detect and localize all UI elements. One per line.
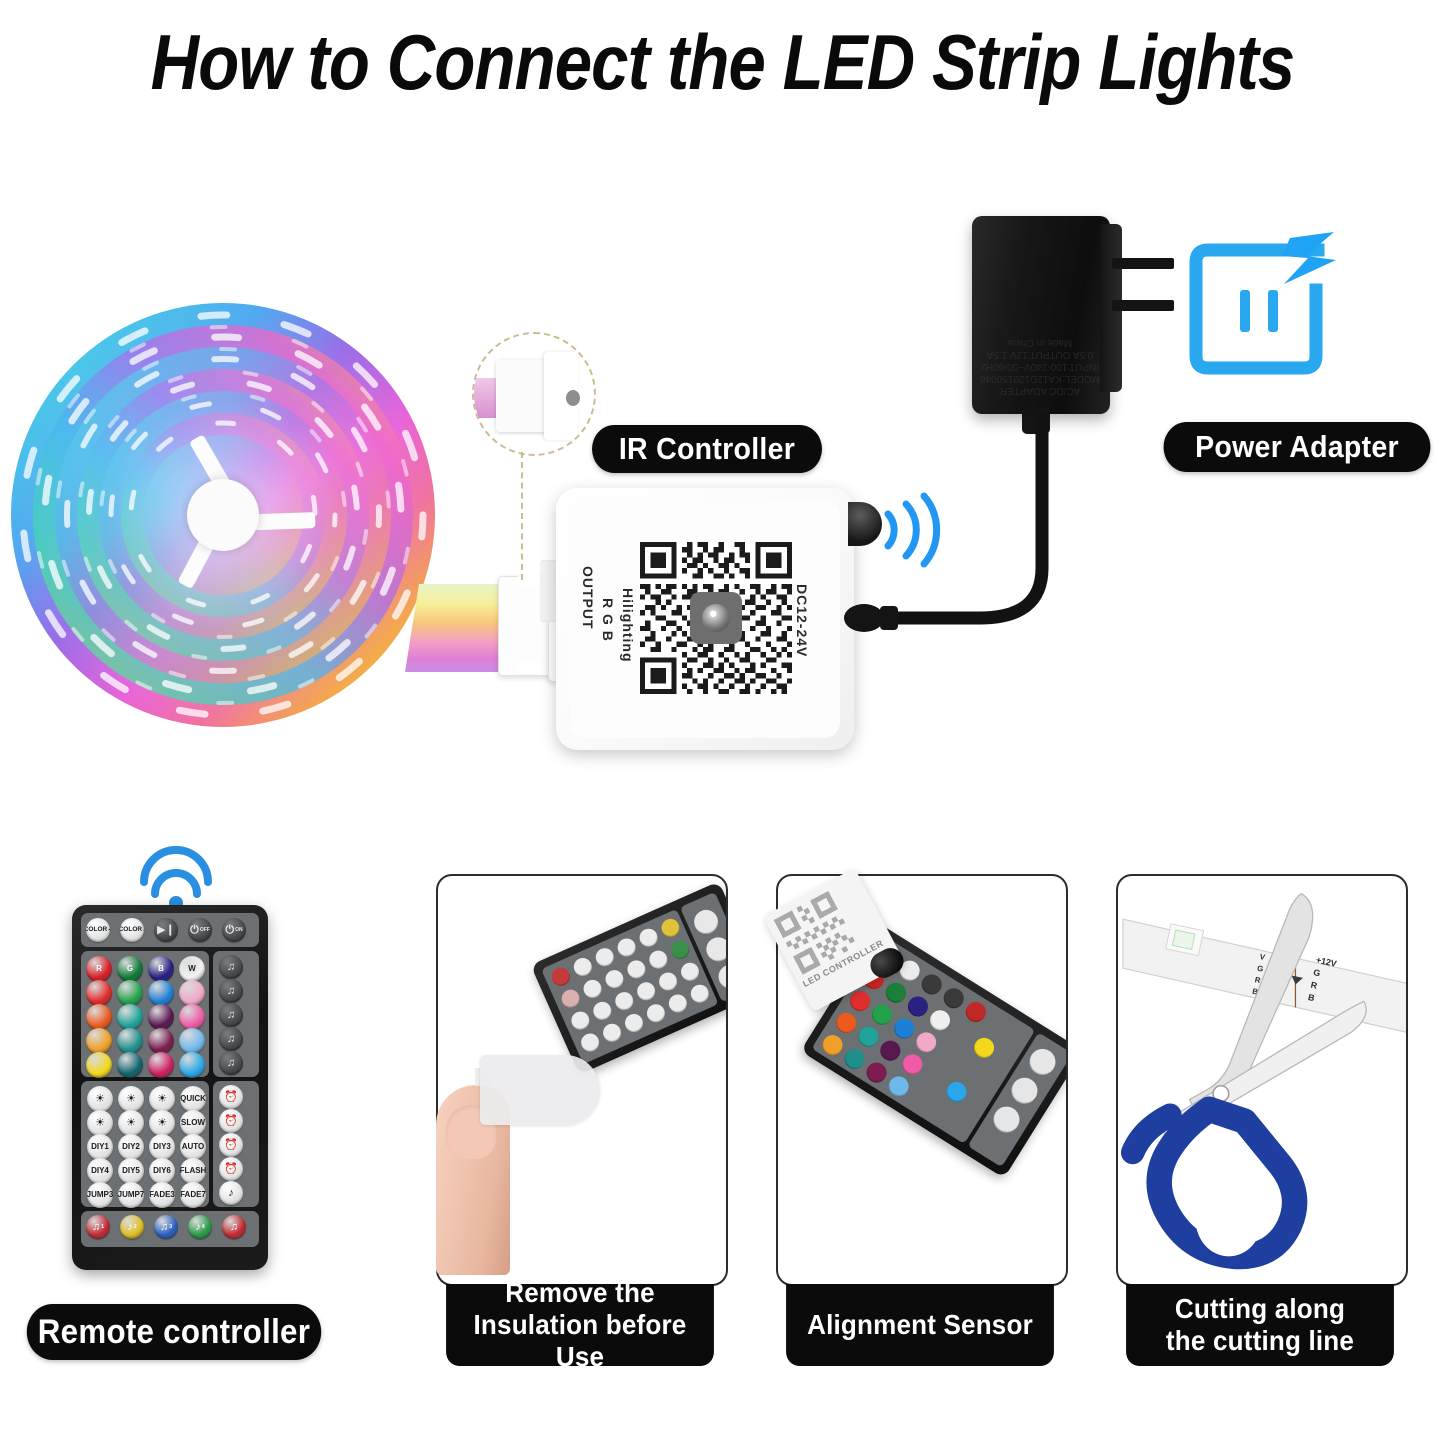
button-glyph: ▶❙ xyxy=(157,925,175,936)
button-glyph: ☀ xyxy=(126,1118,136,1129)
plug-prongs-icon xyxy=(1112,258,1174,269)
button-label: QUICK xyxy=(180,1095,206,1103)
color-swatch[interactable] xyxy=(179,1052,205,1078)
button-glyph: ⏰ xyxy=(224,1140,238,1151)
quick-button[interactable]: QUICK xyxy=(180,1086,206,1112)
caption-line-2: Insulation before Use xyxy=(446,1309,714,1373)
page-title: How to Connect the LED Strip Lights xyxy=(101,14,1344,114)
button-label: 3 xyxy=(169,1225,172,1230)
button-glyph: ☀ xyxy=(157,1094,167,1105)
button-glyph: ♫ xyxy=(227,1034,235,1045)
mode-icon-button-3[interactable]: ♫ xyxy=(219,1003,243,1027)
button-label: FLASH xyxy=(180,1167,206,1175)
color-swatch[interactable] xyxy=(86,980,112,1006)
color-up-button[interactable]: COLOR+ xyxy=(86,918,110,942)
controller-brand-label: Hilighting xyxy=(620,588,636,663)
button-label: R xyxy=(96,965,102,973)
button-label: B xyxy=(158,965,164,973)
button-glyph: ☀ xyxy=(126,1094,136,1105)
button-glyph: ♪ xyxy=(228,1188,234,1199)
remote-tilted-1 xyxy=(531,881,728,1074)
button-label: JUMP3 xyxy=(87,1191,113,1199)
music-mic2-button[interactable]: ♫ xyxy=(222,1215,246,1239)
button-label: 1 xyxy=(101,1225,104,1230)
panel-cutting-line: +12V G R B VGRB xyxy=(1116,874,1408,1286)
color-swatch[interactable] xyxy=(179,1004,205,1030)
reel-spoke xyxy=(253,512,316,530)
ir-controller-label: IR Controller xyxy=(592,425,822,473)
caption-line-1: Remove the xyxy=(505,1277,654,1309)
diy5-button[interactable]: DIY5 xyxy=(118,1158,144,1184)
button-glyph: ⏰ xyxy=(224,1092,238,1103)
adapter-embossed-text: AC/DC ADAPTER MODEL:KA12D120150046U INPU… xyxy=(980,236,1100,396)
button-label: FADE7 xyxy=(180,1191,206,1199)
color-swatch[interactable] xyxy=(117,1052,143,1078)
button-glyph: ☀ xyxy=(157,1118,167,1129)
button-glyph: ♫ xyxy=(227,962,235,973)
connector-zoom-callout xyxy=(472,332,596,456)
diy6-button[interactable]: DIY6 xyxy=(149,1158,175,1184)
remote-controller-label: Remote controller xyxy=(27,1304,321,1360)
button-glyph: ♫ xyxy=(227,1058,235,1069)
button-label: SLOW xyxy=(181,1119,205,1127)
mode-icon-button-1[interactable]: ♫ xyxy=(219,955,243,979)
ir-controller-box: OUTPUT R G B Hilighting DC12-24V xyxy=(556,488,854,750)
power-outlet-icon xyxy=(1178,228,1338,388)
music4-button[interactable]: ♪4 xyxy=(188,1215,212,1239)
button-glyph: ♫ xyxy=(227,1010,235,1021)
color-down-button[interactable]: COLOR- xyxy=(120,918,144,942)
panel-caption-cutting-line: Cutting along the cutting line xyxy=(1126,1284,1394,1366)
diy3-button[interactable]: DIY3 xyxy=(149,1134,175,1160)
callout-leader-line xyxy=(521,452,523,580)
button-glyph: ♪ xyxy=(127,1222,133,1233)
button-label: W xyxy=(188,965,196,973)
controller-channel-labels: R G B xyxy=(600,598,616,642)
green-button[interactable]: G xyxy=(117,956,143,982)
lightning-bolt-icon xyxy=(1282,232,1336,284)
button-label: COLOR xyxy=(120,927,142,934)
blue-button[interactable]: B xyxy=(148,956,174,982)
on-button[interactable]: ⏻ON xyxy=(222,918,246,942)
button-glyph: ☀ xyxy=(95,1118,105,1129)
music3-button[interactable]: ♫3 xyxy=(154,1215,178,1239)
button-label: ON xyxy=(235,928,243,933)
panel-caption-remove-insulation: Remove the Insulation before Use xyxy=(446,1284,714,1366)
color-swatch[interactable] xyxy=(117,980,143,1006)
mode-icon-button-4[interactable]: ♫ xyxy=(219,1027,243,1051)
mode-icon-button-2[interactable]: ♫ xyxy=(219,979,243,1003)
button-label: 4 xyxy=(202,1225,205,1230)
music1-button[interactable]: ♫1 xyxy=(86,1215,110,1239)
off-button[interactable]: ⏻OFF xyxy=(188,918,212,942)
button-label: DIY3 xyxy=(153,1143,171,1151)
brightness-down-green-button[interactable]: ☀ xyxy=(118,1110,144,1136)
button-glyph: ♫ xyxy=(230,1222,238,1233)
brightness-up-red-button[interactable]: ☀ xyxy=(87,1086,113,1112)
color-swatch[interactable] xyxy=(179,980,205,1006)
brightness-down-blue-button[interactable]: ☀ xyxy=(149,1110,175,1136)
reel-hub xyxy=(187,479,259,551)
power-adapter-label: Power Adapter xyxy=(1164,422,1431,472)
led-strip-reel xyxy=(8,300,438,730)
color-swatch[interactable] xyxy=(117,1028,143,1054)
button-glyph: ♫ xyxy=(160,1222,168,1233)
brightness-down-red-button[interactable]: ☀ xyxy=(87,1110,113,1136)
timer-button-1[interactable]: ⏰ xyxy=(219,1085,243,1109)
timer-button-2[interactable]: ⏰ xyxy=(219,1109,243,1133)
red-button[interactable]: R xyxy=(86,956,112,982)
play-pause-button[interactable]: ▶❙ xyxy=(154,918,178,942)
button-glyph: ⏻ xyxy=(225,925,234,936)
button-label: AUTO xyxy=(182,1143,205,1151)
color-swatch[interactable] xyxy=(148,980,174,1006)
button-label: OFF xyxy=(200,928,210,933)
button-label: G xyxy=(127,965,133,973)
caption-line-2: the cutting line xyxy=(1166,1325,1354,1357)
connector-notch-top xyxy=(516,574,542,586)
caption-line-1: Cutting along xyxy=(1175,1293,1345,1325)
button-label: DIY5 xyxy=(122,1167,140,1175)
plug-prong-2 xyxy=(1112,300,1174,311)
cutting-illustration: +12V G R B VGRB xyxy=(1118,876,1408,1276)
panel-caption-alignment-sensor: Alignment Sensor xyxy=(786,1284,1054,1366)
connector-notch-bottom xyxy=(516,662,542,674)
button-glyph: ♫ xyxy=(227,986,235,997)
dc-power-cable xyxy=(830,400,1130,700)
color-swatch[interactable] xyxy=(148,1004,174,1030)
button-glyph: ⏻ xyxy=(190,925,199,936)
button-label: FADE3 xyxy=(149,1191,175,1199)
button-glyph: ♫ xyxy=(92,1222,100,1233)
music-mic-button[interactable]: ♪ xyxy=(219,1181,243,1205)
jump3-button[interactable]: JUMP3 xyxy=(87,1182,113,1208)
music2-button[interactable]: ♪2 xyxy=(120,1215,144,1239)
button-label: COLOR xyxy=(86,927,107,934)
controller-voltage-label: DC12-24V xyxy=(794,584,810,657)
callout-connector-pin xyxy=(566,390,580,406)
button-glyph: ⏰ xyxy=(224,1164,238,1175)
button-label: DIY2 xyxy=(122,1143,140,1151)
button-label: DIY4 xyxy=(91,1167,109,1175)
fade3-button[interactable]: FADE3 xyxy=(149,1182,175,1208)
dc-barrel-jack xyxy=(690,592,742,644)
mode-icon-button-5[interactable]: ♫ xyxy=(219,1051,243,1075)
diy2-button[interactable]: DIY2 xyxy=(118,1134,144,1160)
white-button[interactable]: W xyxy=(179,956,205,982)
button-sublabel: + xyxy=(108,927,110,934)
button-glyph: ☀ xyxy=(95,1094,105,1105)
timer-button-4[interactable]: ⏰ xyxy=(219,1157,243,1181)
button-label: 2 xyxy=(134,1225,137,1230)
button-label: JUMP7 xyxy=(118,1191,144,1199)
color-swatch[interactable] xyxy=(148,1052,174,1078)
color-swatch[interactable] xyxy=(179,1028,205,1054)
jump7-button[interactable]: JUMP7 xyxy=(118,1182,144,1208)
controller-output-label: OUTPUT xyxy=(580,566,596,630)
brightness-up-blue-button[interactable]: ☀ xyxy=(149,1086,175,1112)
button-label: DIY6 xyxy=(153,1167,171,1175)
button-glyph: ⏰ xyxy=(224,1116,238,1127)
diy1-button[interactable]: DIY1 xyxy=(87,1134,113,1160)
color-swatch[interactable] xyxy=(148,1028,174,1054)
timer-button-3[interactable]: ⏰ xyxy=(219,1133,243,1157)
color-swatch[interactable] xyxy=(86,1028,112,1054)
color-swatch[interactable] xyxy=(117,1004,143,1030)
wifi-signal-icon xyxy=(128,838,224,910)
slow-button[interactable]: SLOW xyxy=(180,1110,206,1136)
button-glyph: ♪ xyxy=(195,1222,201,1233)
brightness-up-green-button[interactable]: ☀ xyxy=(118,1086,144,1112)
flash-button[interactable]: FLASH xyxy=(180,1158,206,1184)
color-swatch[interactable] xyxy=(86,1052,112,1078)
diy4-button[interactable]: DIY4 xyxy=(87,1158,113,1184)
color-swatch[interactable] xyxy=(86,1004,112,1030)
remote-controller[interactable]: COLOR+COLOR-▶❙⏻OFF⏻ONRGBW☀☀☀QUICK☀☀☀SLOW… xyxy=(72,905,268,1270)
fade7-button[interactable]: FADE7 xyxy=(180,1182,206,1208)
insulation-tab xyxy=(480,1055,600,1125)
auto-button[interactable]: AUTO xyxy=(180,1134,206,1160)
button-label: DIY1 xyxy=(91,1143,109,1151)
